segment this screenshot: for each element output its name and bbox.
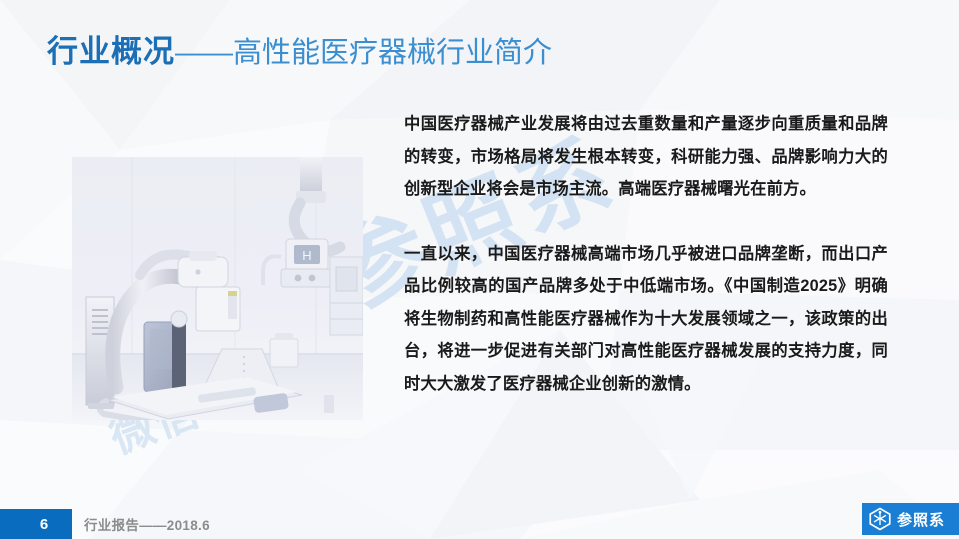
presentation-slide: 参照系 行业概况——高性能医疗器械行业简介 <box>0 0 959 539</box>
brand-logo-text: 参照系 <box>897 509 945 530</box>
photo-illustration: H <box>72 157 363 420</box>
page-title-subtitle: ——高性能医疗器械行业简介 <box>175 37 552 69</box>
page-title-strong: 行业概况 <box>47 34 175 69</box>
medical-equipment-photo: H <box>72 157 363 420</box>
slide-footer: 6 行业报告——2018.6 <box>0 509 959 539</box>
paragraph-2: 一直以来，中国医疗器械高端市场几乎被进口品牌垄断，而出口产品比例较高的国产品牌多… <box>404 238 888 401</box>
page-number-badge: 6 <box>0 509 72 539</box>
hexagon-logo-icon <box>868 507 892 531</box>
brand-logo: 参照系 <box>862 503 959 535</box>
footer-report-label: 行业报告——2018.6 <box>84 514 210 534</box>
page-title: 行业概况——高性能医疗器械行业简介 <box>47 36 552 68</box>
body-copy: 中国医疗器械产业发展将由过去重数量和产量逐步向重质量和品牌的转变，市场格局将发生… <box>404 108 888 400</box>
paragraph-1: 中国医疗器械产业发展将由过去重数量和产量逐步向重质量和品牌的转变，市场格局将发生… <box>404 108 888 206</box>
